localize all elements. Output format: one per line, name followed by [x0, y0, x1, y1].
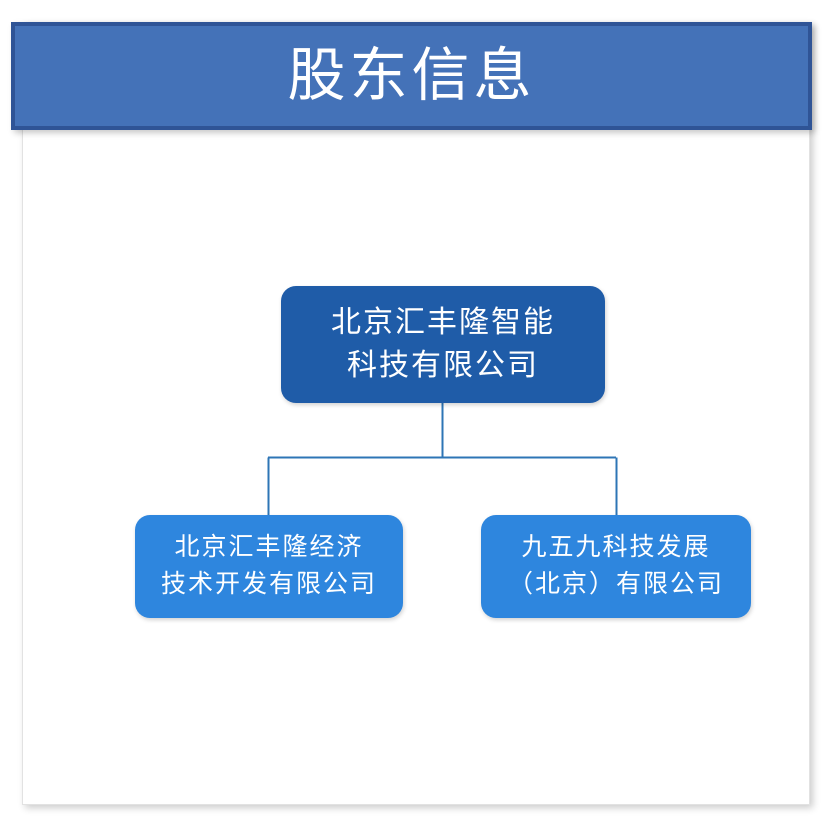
screenshot-root: 北京汇丰隆智能 科技有限公司 北京汇丰隆经济 技术开发有限公司 九五九科技发展 … — [0, 0, 836, 822]
org-node-child-1-label: 北京汇丰隆经济 技术开发有限公司 — [161, 530, 377, 603]
org-node-child-1[interactable]: 北京汇丰隆经济 技术开发有限公司 — [135, 515, 403, 618]
page-title: 股东信息 — [287, 47, 535, 105]
org-chart-connectors — [45, 154, 833, 828]
shareholder-info-card: 北京汇丰隆智能 科技有限公司 北京汇丰隆经济 技术开发有限公司 九五九科技发展 … — [22, 22, 810, 805]
org-chart-area: 北京汇丰隆智能 科技有限公司 北京汇丰隆经济 技术开发有限公司 九五九科技发展 … — [45, 154, 833, 828]
org-node-child-2[interactable]: 九五九科技发展 （北京）有限公司 — [481, 515, 751, 618]
org-node-root-label: 北京汇丰隆智能 科技有限公司 — [331, 302, 555, 387]
header-bar: 股东信息 — [11, 22, 812, 130]
org-node-root[interactable]: 北京汇丰隆智能 科技有限公司 — [281, 286, 605, 403]
org-node-child-2-label: 九五九科技发展 （北京）有限公司 — [508, 530, 724, 603]
